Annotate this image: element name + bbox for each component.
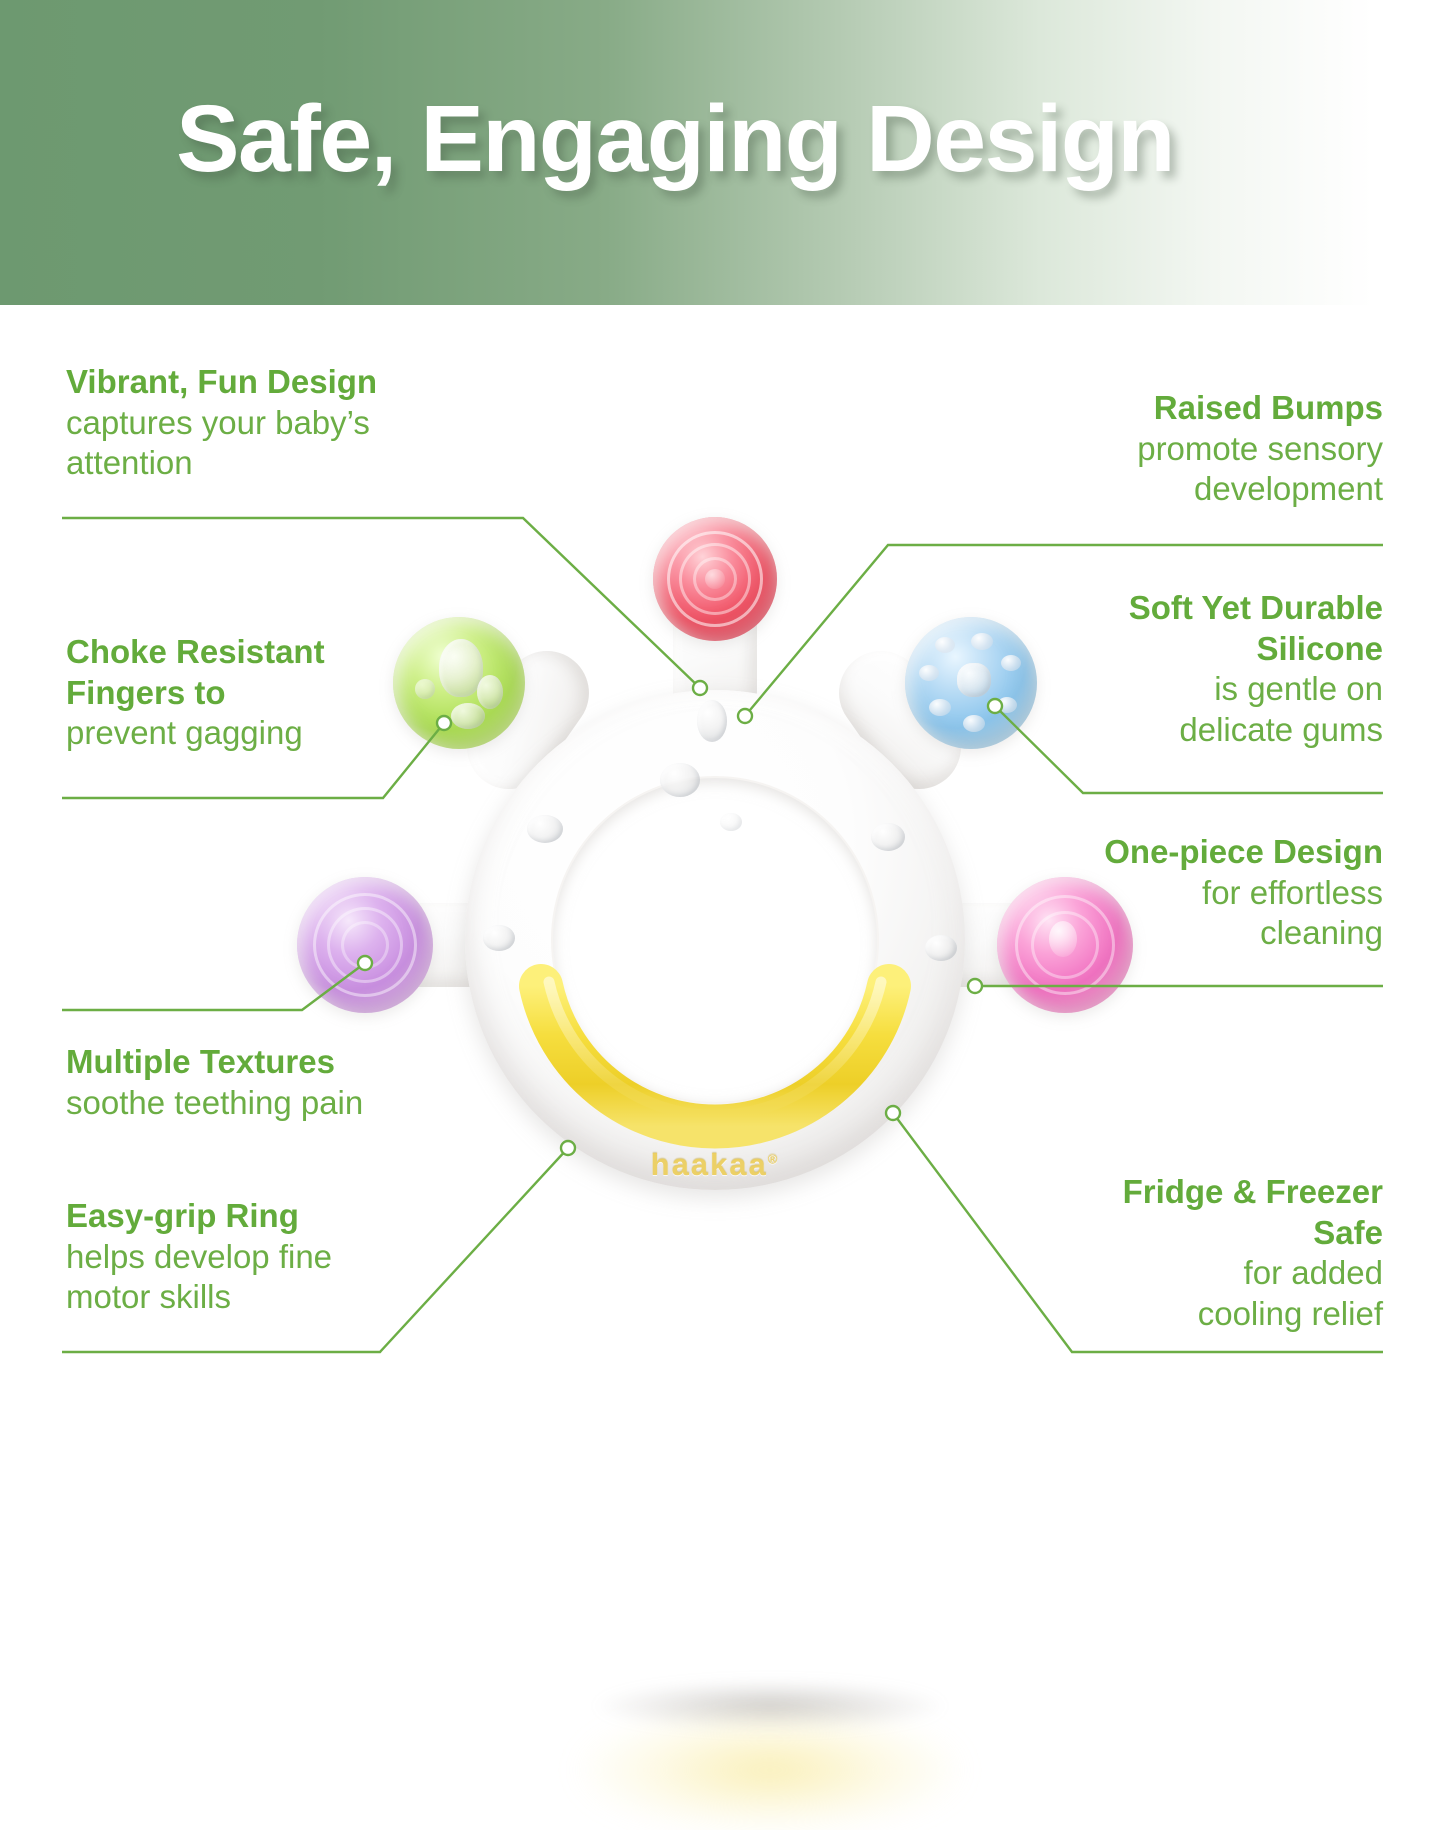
infographic-page: Safe, Engaging Design	[0, 0, 1445, 1445]
callout-heading: Raised Bumps	[913, 388, 1383, 429]
callout-heading: Vibrant, Fun Design	[66, 362, 536, 403]
callout-line: for effortless	[913, 873, 1383, 914]
leader-endpoint-multiple-textures	[358, 956, 372, 970]
callout-line: delicate gums	[913, 710, 1383, 751]
callout-line: development	[913, 469, 1383, 510]
leader-endpoint-fridge-freezer-safe	[886, 1106, 900, 1120]
callout-easy-grip-ring: Easy-grip Ring helps develop fine motor …	[66, 1196, 496, 1318]
callout-line: for added	[913, 1253, 1383, 1294]
callout-line: promote sensory	[913, 429, 1383, 470]
callout-heading: Soft Yet Durable	[913, 588, 1383, 629]
callout-heading: Silicone	[913, 629, 1383, 670]
callout-fridge-freezer-safe: Fridge & Freezer Safe for added cooling …	[913, 1172, 1383, 1334]
product-yellow-glow	[580, 1710, 960, 1830]
callout-heading: Fingers to	[66, 673, 486, 714]
callout-vibrant-fun-design: Vibrant, Fun Design captures your baby’s…	[66, 362, 536, 484]
callout-line: helps develop fine	[66, 1237, 496, 1278]
callout-one-piece-design: One-piece Design for effortless cleaning	[913, 832, 1383, 954]
leader-multiple-textures	[62, 963, 365, 1010]
callout-heading: One-piece Design	[913, 832, 1383, 873]
callout-heading: Fridge & Freezer	[913, 1172, 1383, 1213]
callout-heading: Choke Resistant	[66, 632, 486, 673]
callout-line: is gentle on	[913, 669, 1383, 710]
leader-endpoint-raised-bumps	[738, 709, 752, 723]
callout-heading: Easy-grip Ring	[66, 1196, 496, 1237]
callout-line: captures your baby’s	[66, 403, 536, 444]
callout-line: prevent gagging	[66, 713, 486, 754]
callout-raised-bumps: Raised Bumps promote sensory development	[913, 388, 1383, 510]
callout-choke-resistant: Choke Resistant Fingers to prevent gaggi…	[66, 632, 486, 754]
callout-soft-yet-durable: Soft Yet Durable Silicone is gentle on d…	[913, 588, 1383, 750]
callout-line: motor skills	[66, 1277, 496, 1318]
callout-multiple-textures: Multiple Textures soothe teething pain	[66, 1042, 496, 1123]
callout-line: cleaning	[913, 913, 1383, 954]
callout-line: cooling relief	[913, 1294, 1383, 1335]
leader-endpoint-easy-grip-ring	[561, 1141, 575, 1155]
callout-line: soothe teething pain	[66, 1083, 496, 1124]
callout-heading: Safe	[913, 1213, 1383, 1254]
leader-endpoint-vibrant-fun-design	[693, 681, 707, 695]
callout-line: attention	[66, 443, 536, 484]
leader-endpoint-one-piece-design	[968, 979, 982, 993]
callout-heading: Multiple Textures	[66, 1042, 496, 1083]
